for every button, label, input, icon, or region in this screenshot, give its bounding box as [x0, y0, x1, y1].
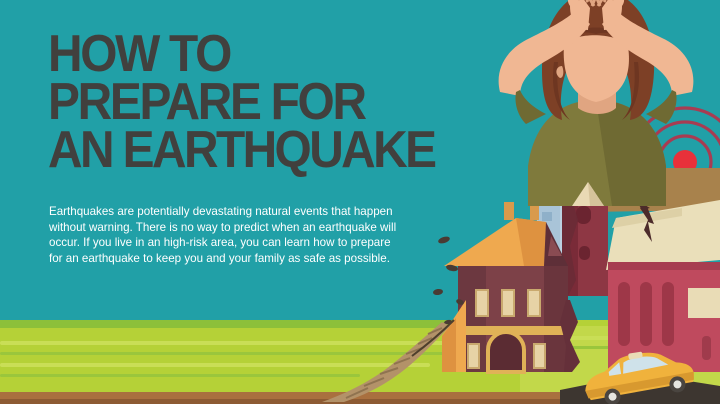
fissure-hairline: [412, 320, 454, 356]
headline-line-3: AN EARTHQUAKE: [48, 126, 526, 174]
face: [564, 35, 629, 102]
ground-crack-fissure: [300, 312, 500, 404]
intro-paragraph: Earthquakes are potentially devastating …: [49, 204, 401, 266]
tilted-yellow-taxi: [576, 348, 706, 404]
page-title: HOW TO PREPARE FOR AN EARTHQUAKE: [48, 30, 568, 174]
cracked-church-building: [606, 200, 720, 372]
headline-line-2: PREPARE FOR: [48, 78, 526, 126]
headline-line-1: HOW TO: [48, 30, 526, 78]
infographic-poster: HOW TO PREPARE FOR AN EARTHQUAKE Earthqu…: [0, 0, 720, 404]
fissure-body: [322, 322, 450, 402]
